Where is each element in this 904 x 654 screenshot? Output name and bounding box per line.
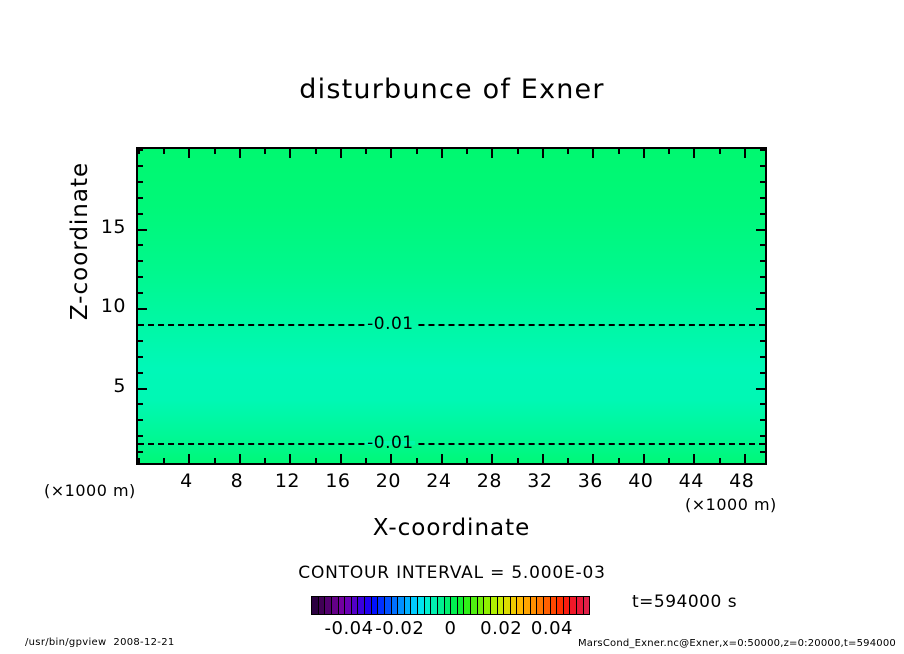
x-tick-label: 48	[729, 470, 754, 492]
colorbar-cell	[577, 597, 584, 614]
y-tick-right	[760, 181, 765, 183]
x-tick	[491, 454, 493, 463]
x-tick-top	[163, 149, 165, 154]
x-tick	[719, 458, 721, 463]
colorbar-cell	[557, 597, 564, 614]
colorbar-cell	[332, 597, 339, 614]
y-tick-right	[760, 451, 765, 453]
x-tick	[466, 458, 468, 463]
x-tick	[289, 454, 291, 463]
x-tick-top	[188, 149, 190, 158]
x-tick-label: 40	[628, 470, 653, 492]
x-tick-top	[315, 149, 317, 154]
x-tick-label: 12	[275, 470, 300, 492]
colorbar-cell	[339, 597, 346, 614]
x-tick-top	[693, 149, 695, 158]
page-title: disturbunce of Exner	[0, 74, 904, 105]
y-tick	[138, 372, 143, 374]
x-tick	[643, 454, 645, 463]
x-tick-top	[214, 149, 216, 154]
x-tick-top	[264, 149, 266, 154]
x-tick	[517, 458, 519, 463]
y-tick-right	[760, 165, 765, 167]
y-tick-right	[760, 197, 765, 199]
y-tick	[138, 356, 143, 358]
y-tick-right	[760, 149, 765, 151]
colorbar-cell	[431, 597, 438, 614]
y-tick	[138, 435, 143, 437]
x-tick	[365, 458, 367, 463]
x-tick-label: 36	[578, 470, 603, 492]
x-axis-unit-label: (×1000 m)	[685, 495, 777, 514]
colorbar-cell	[398, 597, 405, 614]
colorbar-cell	[584, 597, 590, 614]
colorbar-cell	[458, 597, 465, 614]
time-label: t=594000 s	[632, 592, 737, 612]
x-tick	[693, 454, 695, 463]
colorbar-cell	[378, 597, 385, 614]
colorbar-cell	[551, 597, 558, 614]
x-tick	[668, 458, 670, 463]
y-tick-label: 15	[101, 216, 126, 238]
contour-line	[138, 324, 765, 326]
y-tick-right	[756, 388, 765, 390]
footer-data-source: MarsCond_Exner.nc@Exner,x=0:50000,z=0:20…	[578, 638, 896, 649]
colorbar-cell	[365, 597, 372, 614]
x-tick-top	[340, 149, 342, 158]
y-tick-right	[760, 260, 765, 262]
x-axis-title: X-coordinate	[136, 515, 767, 541]
colorbar-cell	[345, 597, 352, 614]
x-tick-top	[592, 149, 594, 158]
colorbar	[311, 596, 590, 615]
colorbar-tick-label: 0.02	[480, 618, 522, 639]
colorbar-cell	[445, 597, 452, 614]
colorbar-cell	[471, 597, 478, 614]
colorbar-cell	[524, 597, 531, 614]
contour-line	[138, 443, 765, 445]
x-tick-top	[441, 149, 443, 158]
y-tick	[138, 197, 143, 199]
colorbar-cell	[319, 597, 326, 614]
y-tick-right	[760, 419, 765, 421]
x-tick-label: 20	[376, 470, 401, 492]
y-tick-right	[760, 292, 765, 294]
y-tick	[138, 308, 147, 310]
y-tick-right	[760, 244, 765, 246]
colorbar-cell	[392, 597, 399, 614]
x-tick	[138, 458, 140, 463]
x-tick-top	[567, 149, 569, 154]
colorbar-cell	[411, 597, 418, 614]
colorbar-cell	[451, 597, 458, 614]
x-tick	[618, 458, 620, 463]
y-axis-title: Z-coordinate	[67, 121, 93, 361]
x-tick	[214, 458, 216, 463]
colorbar-cell	[312, 597, 319, 614]
x-tick	[188, 454, 190, 463]
y-tick-right	[760, 372, 765, 374]
contour-label: -0.01	[367, 314, 414, 334]
plot-frame: -0.01-0.01	[136, 147, 767, 465]
x-tick-top	[643, 149, 645, 158]
y-tick	[138, 388, 147, 390]
colorbar-cell	[511, 597, 518, 614]
y-tick	[138, 340, 143, 342]
colorbar-cell	[498, 597, 505, 614]
x-tick-top	[416, 149, 418, 154]
x-tick-top	[289, 149, 291, 158]
y-axis-unit-label: (×1000 m)	[44, 481, 136, 500]
colorbar-cell	[385, 597, 392, 614]
y-tick	[138, 229, 147, 231]
y-tick-right	[760, 403, 765, 405]
y-tick	[138, 181, 143, 183]
y-tick	[138, 403, 143, 405]
x-tick-top	[390, 149, 392, 158]
y-tick	[138, 451, 143, 453]
x-tick	[441, 454, 443, 463]
y-tick	[138, 292, 143, 294]
y-tick	[138, 213, 143, 215]
y-tick	[138, 149, 143, 151]
x-tick	[315, 458, 317, 463]
x-tick-label: 32	[527, 470, 552, 492]
x-tick-top	[668, 149, 670, 154]
contour-label: -0.01	[367, 433, 414, 453]
y-tick-right	[760, 276, 765, 278]
colorbar-cell	[325, 597, 332, 614]
x-tick-label: 24	[426, 470, 451, 492]
x-tick	[592, 454, 594, 463]
footer-program-info: /usr/bin/gpview 2008-12-21	[25, 637, 175, 648]
colorbar-cell	[425, 597, 432, 614]
colorbar-cell	[570, 597, 577, 614]
y-tick	[138, 244, 143, 246]
x-tick	[163, 458, 165, 463]
y-tick-label: 10	[101, 295, 126, 317]
colorbar-cell	[484, 597, 491, 614]
x-tick-top	[466, 149, 468, 154]
colorbar-cell	[531, 597, 538, 614]
x-tick-top	[239, 149, 241, 158]
y-tick-right	[760, 356, 765, 358]
contour-fill-field	[138, 149, 765, 463]
y-tick-right	[760, 435, 765, 437]
x-tick-top	[517, 149, 519, 154]
y-tick	[138, 165, 143, 167]
colorbar-tick-label: 0.04	[531, 618, 573, 639]
x-tick-label: 4	[180, 470, 193, 492]
colorbar-tick-label: 0	[445, 618, 457, 639]
x-tick-label: 8	[231, 470, 244, 492]
contour-interval-caption: CONTOUR INTERVAL = 5.000E-03	[0, 563, 904, 583]
colorbar-cell	[405, 597, 412, 614]
colorbar-cell	[358, 597, 365, 614]
x-tick	[390, 454, 392, 463]
x-tick-label: 16	[325, 470, 350, 492]
y-tick-right	[756, 229, 765, 231]
colorbar-cell	[491, 597, 498, 614]
x-tick	[542, 454, 544, 463]
x-tick	[567, 458, 569, 463]
y-tick	[138, 260, 143, 262]
colorbar-cell	[564, 597, 571, 614]
y-tick-label: 5	[113, 375, 126, 397]
colorbar-cell	[478, 597, 485, 614]
x-tick	[340, 454, 342, 463]
x-tick-top	[618, 149, 620, 154]
x-tick-top	[719, 149, 721, 154]
x-tick	[264, 458, 266, 463]
colorbar-cell	[372, 597, 379, 614]
x-tick	[416, 458, 418, 463]
colorbar-cell	[418, 597, 425, 614]
colorbar-cell	[352, 597, 359, 614]
x-tick	[239, 454, 241, 463]
y-tick-right	[760, 340, 765, 342]
colorbar-tick-label: -0.04	[324, 618, 373, 639]
colorbar-cell	[544, 597, 551, 614]
colorbar-cell	[504, 597, 511, 614]
x-tick	[744, 454, 746, 463]
colorbar-cell	[464, 597, 471, 614]
colorbar-tick-labels: -0.04-0.0200.020.04	[311, 618, 590, 638]
x-tick-top	[491, 149, 493, 158]
y-tick	[138, 419, 143, 421]
y-tick-right	[760, 213, 765, 215]
y-tick-right	[756, 308, 765, 310]
colorbar-cell	[537, 597, 544, 614]
colorbar-tick-label: -0.02	[375, 618, 424, 639]
x-tick-top	[744, 149, 746, 158]
x-tick-label: 44	[679, 470, 704, 492]
x-tick-top	[542, 149, 544, 158]
x-tick-top	[365, 149, 367, 154]
y-tick	[138, 276, 143, 278]
colorbar-cell	[438, 597, 445, 614]
x-tick-label: 28	[477, 470, 502, 492]
colorbar-cell	[517, 597, 524, 614]
